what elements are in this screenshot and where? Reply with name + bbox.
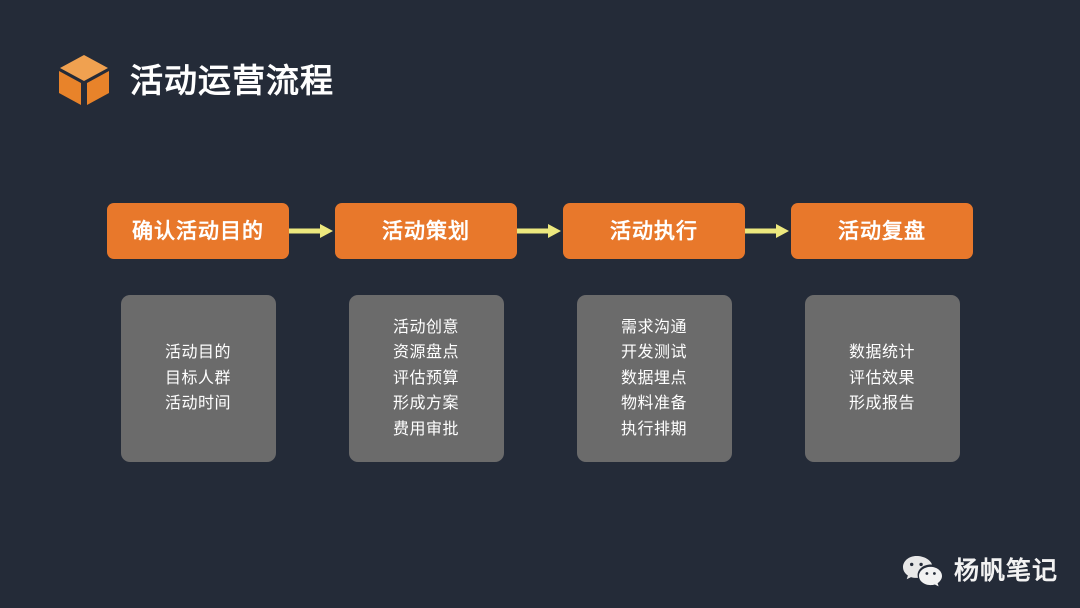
card-3-item-5: 执行排期 — [621, 421, 687, 439]
flow-steps-row: 确认活动目的 活动策划 活动执行 活动复盘 — [107, 203, 973, 259]
card-slot-1: 活动目的 目标人群 活动时间 — [107, 295, 289, 462]
detail-cards-row: 活动目的 目标人群 活动时间 活动创意 资源盘点 评估预算 形成方案 费用审批 … — [107, 295, 973, 462]
flow-step-4[interactable]: 活动复盘 — [791, 203, 973, 259]
wechat-icon — [902, 554, 942, 588]
flow-step-4-label: 活动复盘 — [838, 221, 926, 242]
card-2-item-1: 活动创意 — [393, 319, 459, 337]
card-1-item-3: 活动时间 — [165, 395, 231, 413]
watermark-label: 杨帆笔记 — [954, 559, 1058, 584]
card-gap-1 — [289, 295, 335, 462]
card-4-item-2: 评估效果 — [849, 370, 915, 388]
card-slot-3: 需求沟通 开发测试 数据埋点 物料准备 执行排期 — [563, 295, 745, 462]
detail-card-3[interactable]: 需求沟通 开发测试 数据埋点 物料准备 执行排期 — [577, 295, 732, 462]
card-3-item-1: 需求沟通 — [621, 319, 687, 337]
card-4-item-1: 数据统计 — [849, 344, 915, 362]
flow-step-1-label: 确认活动目的 — [132, 221, 264, 242]
card-3-item-4: 物料准备 — [621, 395, 687, 413]
card-slot-2: 活动创意 资源盘点 评估预算 形成方案 费用审批 — [335, 295, 517, 462]
flow-step-3-label: 活动执行 — [610, 221, 698, 242]
arrow-right-icon — [289, 221, 335, 241]
card-4-item-3: 形成报告 — [849, 395, 915, 413]
arrow-right-icon — [745, 221, 791, 241]
detail-card-1[interactable]: 活动目的 目标人群 活动时间 — [121, 295, 276, 462]
card-2-item-2: 资源盘点 — [393, 344, 459, 362]
detail-card-4[interactable]: 数据统计 评估效果 形成报告 — [805, 295, 960, 462]
card-3-item-3: 数据埋点 — [621, 370, 687, 388]
card-3-item-2: 开发测试 — [621, 344, 687, 362]
card-2-item-4: 形成方案 — [393, 395, 459, 413]
card-2-item-3: 评估预算 — [393, 370, 459, 388]
cube-icon — [56, 52, 112, 108]
flow-step-2-label: 活动策划 — [382, 221, 470, 242]
slide-header: 活动运营流程 — [56, 52, 334, 108]
card-1-item-2: 目标人群 — [165, 370, 231, 388]
card-2-item-5: 费用审批 — [393, 421, 459, 439]
card-1-item-1: 活动目的 — [165, 344, 231, 362]
slide-canvas: 活动运营流程 确认活动目的 活动策划 活动执行 活动复盘 — [0, 0, 1080, 608]
flow-step-2[interactable]: 活动策划 — [335, 203, 517, 259]
page-title: 活动运营流程 — [130, 64, 334, 97]
card-gap-2 — [517, 295, 563, 462]
detail-card-2[interactable]: 活动创意 资源盘点 评估预算 形成方案 费用审批 — [349, 295, 504, 462]
arrow-right-icon — [517, 221, 563, 241]
watermark: 杨帆笔记 — [902, 554, 1058, 588]
flow-step-1[interactable]: 确认活动目的 — [107, 203, 289, 259]
card-slot-4: 数据统计 评估效果 形成报告 — [791, 295, 973, 462]
card-gap-3 — [745, 295, 791, 462]
flow-step-3[interactable]: 活动执行 — [563, 203, 745, 259]
